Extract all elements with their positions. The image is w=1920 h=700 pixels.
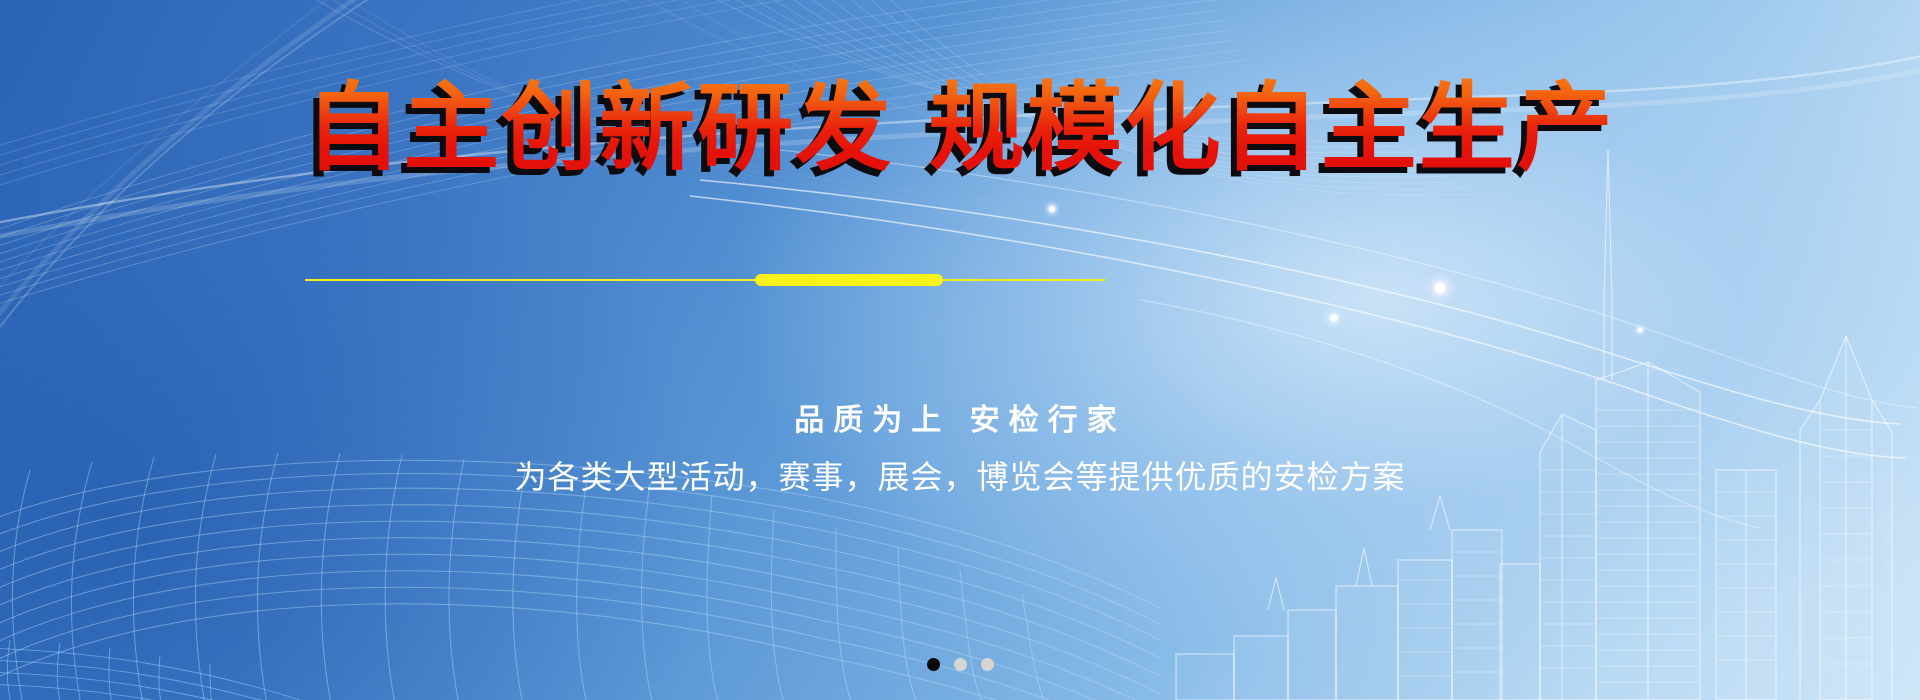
divider-thick-segment [755, 274, 943, 286]
divider-thin-line [305, 279, 1105, 281]
carousel-indicators [0, 658, 1920, 671]
banner-title: 自主创新研发 规模化自主生产 自主创新研发 规模化自主生产 [305, 80, 1614, 176]
banner-subtitle: 为各类大型活动，赛事，展会，博览会等提供优质的安检方案 [514, 452, 1405, 498]
carousel-dot-1[interactable] [927, 658, 940, 671]
subtitle-container: 为各类大型活动，赛事，展会，博览会等提供优质的安检方案 [0, 452, 1920, 498]
carousel-dot-2[interactable] [954, 658, 967, 671]
tagline-container: 品质为上 安检行家 [0, 395, 1920, 439]
title-divider [305, 274, 1105, 286]
carousel-dot-3[interactable] [981, 658, 994, 671]
hero-banner: 自主创新研发 规模化自主生产 自主创新研发 规模化自主生产 品质为上 安检行家 … [0, 0, 1920, 700]
banner-tagline: 品质为上 安检行家 [794, 395, 1125, 439]
banner-title-text: 自主创新研发 规模化自主生产 [305, 72, 1614, 184]
banner-title-container: 自主创新研发 规模化自主生产 自主创新研发 规模化自主生产 [0, 80, 1920, 176]
